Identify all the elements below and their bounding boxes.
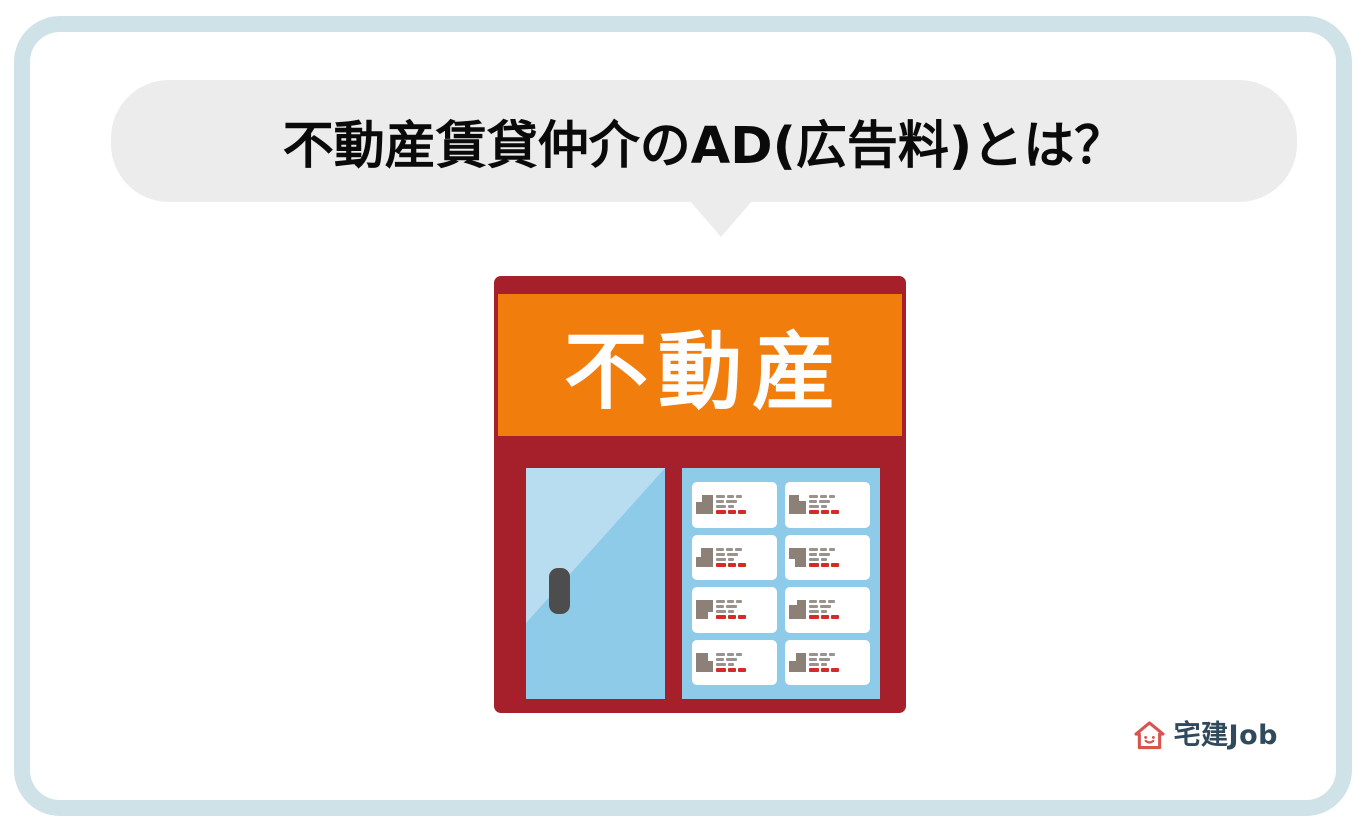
door-handle xyxy=(549,568,570,614)
flyer-text-lines xyxy=(716,653,773,672)
title-speech-bubble: 不動産賃貸仲介のAD(広告料)とは？ xyxy=(111,80,1297,202)
page-title: 不動産賃貸仲介のAD(広告料)とは？ xyxy=(111,80,1297,202)
shop-sign-text: 不動産 xyxy=(498,294,902,436)
floor-plan-icon xyxy=(789,495,806,514)
flyer-text-lines xyxy=(809,600,866,619)
building-body: 不動産 xyxy=(494,276,906,713)
property-listing-flyer xyxy=(692,640,777,686)
floor-plan-icon xyxy=(696,495,713,514)
property-listing-flyer xyxy=(785,482,870,528)
property-listing-flyer xyxy=(785,535,870,581)
shop-window xyxy=(682,468,880,699)
property-listing-flyer xyxy=(692,535,777,581)
property-listing-flyer xyxy=(785,640,870,686)
floor-plan-icon xyxy=(789,600,806,619)
floor-plan-icon xyxy=(696,600,713,619)
card-frame: 不動産賃貸仲介のAD(広告料)とは？ 不動産 xyxy=(14,16,1352,816)
property-listing-flyer xyxy=(692,482,777,528)
door-glass-reflection xyxy=(526,468,665,623)
flyer-text-lines xyxy=(809,548,866,567)
floor-plan-icon xyxy=(789,653,806,672)
house-smile-icon xyxy=(1134,721,1165,750)
speech-bubble-tail xyxy=(690,201,752,237)
card-canvas: 不動産賃貸仲介のAD(広告料)とは？ 不動産 xyxy=(30,32,1336,800)
property-listing-flyer xyxy=(785,587,870,633)
flyer-text-lines xyxy=(716,495,773,514)
flyer-text-lines xyxy=(716,600,773,619)
flyer-text-lines xyxy=(809,653,866,672)
brand-logo[interactable]: 宅建Job xyxy=(1134,721,1278,750)
brand-logo-text: 宅建Job xyxy=(1174,722,1278,749)
floor-plan-icon xyxy=(696,653,713,672)
floor-plan-icon xyxy=(789,548,806,567)
glass-door xyxy=(526,468,665,699)
shop-sign-board: 不動産 xyxy=(498,294,902,436)
property-listing-flyer xyxy=(692,587,777,633)
flyer-text-lines xyxy=(716,548,773,567)
flyer-text-lines xyxy=(809,495,866,514)
floor-plan-icon xyxy=(696,548,713,567)
real-estate-office-illustration: 不動産 xyxy=(494,276,906,713)
